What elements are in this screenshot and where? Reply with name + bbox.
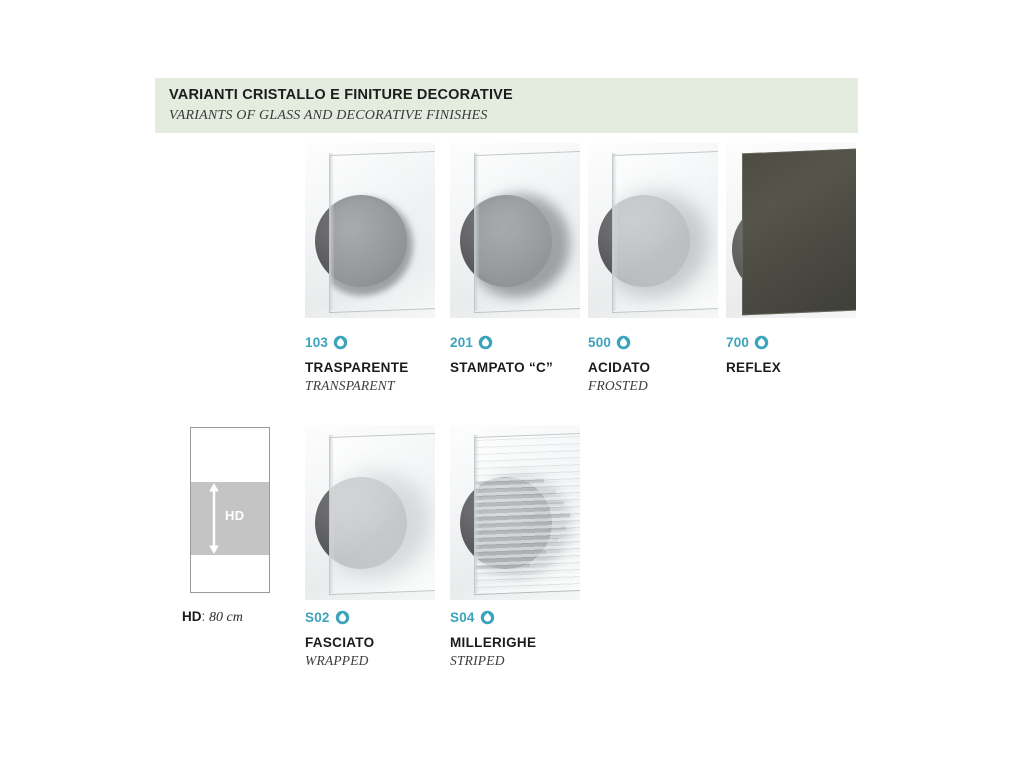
swatch-image-transparent: [305, 143, 435, 318]
finish-code: 700: [726, 335, 749, 350]
glass-pane: [329, 151, 435, 313]
code-row-500: 500: [588, 333, 738, 351]
finish-code: S04: [450, 610, 475, 625]
code-row-201: 201: [450, 333, 600, 351]
code-row-S02: S02: [305, 608, 455, 626]
finish-swatch-103[interactable]: [305, 143, 435, 318]
finish-name: STAMPATO “C”: [450, 360, 600, 376]
caption-S04: S04 MILLERIGHE STRIPED: [450, 608, 600, 669]
finish-swatch-S04[interactable]: [450, 425, 580, 600]
caption-500: 500 ACIDATO FROSTED: [588, 333, 738, 394]
glass-sample-icon: [478, 335, 493, 350]
finish-swatch-S02[interactable]: [305, 425, 435, 600]
finish-name: TRASPARENTE: [305, 360, 455, 376]
glass-pane: [474, 433, 580, 595]
finish-translation: WRAPPED: [305, 652, 455, 669]
glass-sample-icon: [480, 610, 495, 625]
finish-code: S02: [305, 610, 330, 625]
finish-translation: TRANSPARENT: [305, 377, 455, 394]
finish-translation: STRIPED: [450, 652, 600, 669]
hd-diagram-label: HD: [225, 508, 245, 523]
finish-name: ACIDATO: [588, 360, 738, 376]
finish-swatch-700[interactable]: [726, 143, 856, 318]
glass-pane-edge: [329, 435, 334, 593]
caption-700: 700 REFLEX: [726, 333, 876, 377]
caption-S02: S02 FASCIATO WRAPPED: [305, 608, 455, 669]
hd-caption-label: HD: [182, 609, 202, 624]
finish-code: 201: [450, 335, 473, 350]
finish-name: MILLERIGHE: [450, 635, 600, 651]
glass-pane: [329, 433, 435, 595]
page-root: VARIANTI CRISTALLO E FINITURE DECORATIVE…: [0, 0, 1024, 768]
glass-pane-edge: [474, 153, 479, 311]
code-row-700: 700: [726, 333, 876, 351]
finish-swatch-201[interactable]: [450, 143, 580, 318]
page-title: VARIANTI CRISTALLO E FINITURE DECORATIVE: [169, 86, 858, 104]
glass-pane-edge: [612, 153, 617, 311]
finish-code: 103: [305, 335, 328, 350]
page-subtitle: VARIANTS OF GLASS AND DECORATIVE FINISHE…: [169, 106, 858, 125]
finish-translation: FROSTED: [588, 377, 738, 394]
finish-code: 500: [588, 335, 611, 350]
hd-caption: HD: 80 cm: [182, 609, 243, 626]
finish-name: FASCIATO: [305, 635, 455, 651]
caption-201: 201 STAMPATO “C”: [450, 333, 600, 377]
swatch-image-acidato: [588, 143, 718, 318]
swatch-image-stampato-c: [450, 143, 580, 318]
swatch-image-millerighe: [450, 425, 580, 600]
finish-name: REFLEX: [726, 360, 876, 376]
glass-pane-edge: [329, 153, 334, 311]
glass-sample-icon: [335, 610, 350, 625]
hd-caption-separator: :: [202, 609, 206, 624]
hd-caption-value: 80 cm: [209, 610, 243, 625]
glass-pane: [612, 151, 718, 313]
hd-dimension-diagram: HD: [190, 427, 270, 593]
finish-swatch-500[interactable]: [588, 143, 718, 318]
hd-double-arrow-icon: [207, 482, 221, 555]
glass-sample-icon: [616, 335, 631, 350]
glass-sample-icon: [333, 335, 348, 350]
glass-pane-tinted: [742, 149, 856, 316]
code-row-S04: S04: [450, 608, 600, 626]
code-row-103: 103: [305, 333, 455, 351]
glass-pane-edge: [474, 435, 479, 593]
swatch-image-fasciato: [305, 425, 435, 600]
section-header-band: VARIANTI CRISTALLO E FINITURE DECORATIVE…: [155, 78, 858, 133]
swatch-image-reflex: [726, 143, 856, 318]
glass-pane: [474, 151, 580, 313]
glass-sample-icon: [754, 335, 769, 350]
caption-103: 103 TRASPARENTE TRANSPARENT: [305, 333, 455, 394]
